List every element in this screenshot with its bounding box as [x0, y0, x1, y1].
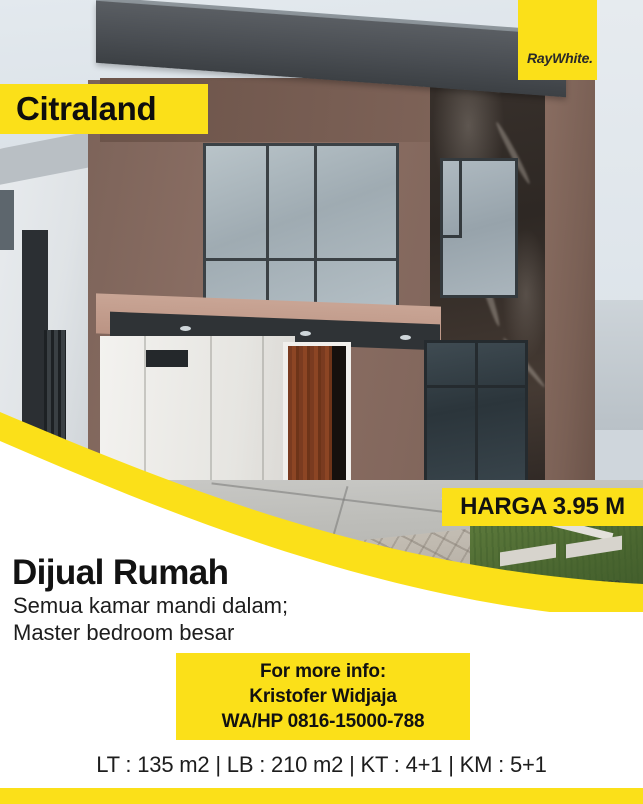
- listing-description: Semua kamar mandi dalam; Master bedroom …: [13, 592, 288, 646]
- location-badge: Citraland: [0, 84, 208, 134]
- downlight-icon: [400, 335, 411, 340]
- location-badge-label: Citraland: [16, 90, 156, 128]
- downlight-icon: [300, 331, 311, 336]
- contact-agent-name: Kristofer Widjaja: [249, 684, 396, 709]
- downlight-icon: [180, 326, 191, 331]
- contact-phone[interactable]: WA/HP 0816-15000-788: [222, 709, 425, 734]
- price-badge: HARGA 3.95 M: [442, 488, 643, 526]
- contact-line-heading: For more info:: [260, 659, 386, 684]
- description-line-2: Master bedroom besar: [13, 619, 288, 646]
- description-line-1: Semua kamar mandi dalam;: [13, 592, 288, 619]
- bottom-accent-bar: [0, 788, 643, 804]
- neighbour-window: [0, 190, 14, 250]
- upper-floor-window: [203, 143, 399, 313]
- tower-upper-window: [440, 158, 518, 298]
- property-flyer: PR00000289 Citraland RayWhite. HARGA 3.9…: [0, 0, 643, 804]
- brand-logo-badge: RayWhite.: [518, 0, 597, 80]
- property-specs: LT : 135 m2 | LB : 210 m2 | KT : 4+1 | K…: [0, 752, 643, 778]
- raywhite-logo-text: RayWhite.: [527, 50, 593, 66]
- listing-headline: Dijual Rumah: [12, 553, 228, 593]
- background-sky-right: [592, 0, 643, 330]
- contact-info-box[interactable]: For more info: Kristofer Widjaja WA/HP 0…: [176, 653, 470, 740]
- price-badge-label: HARGA 3.95 M: [460, 493, 625, 521]
